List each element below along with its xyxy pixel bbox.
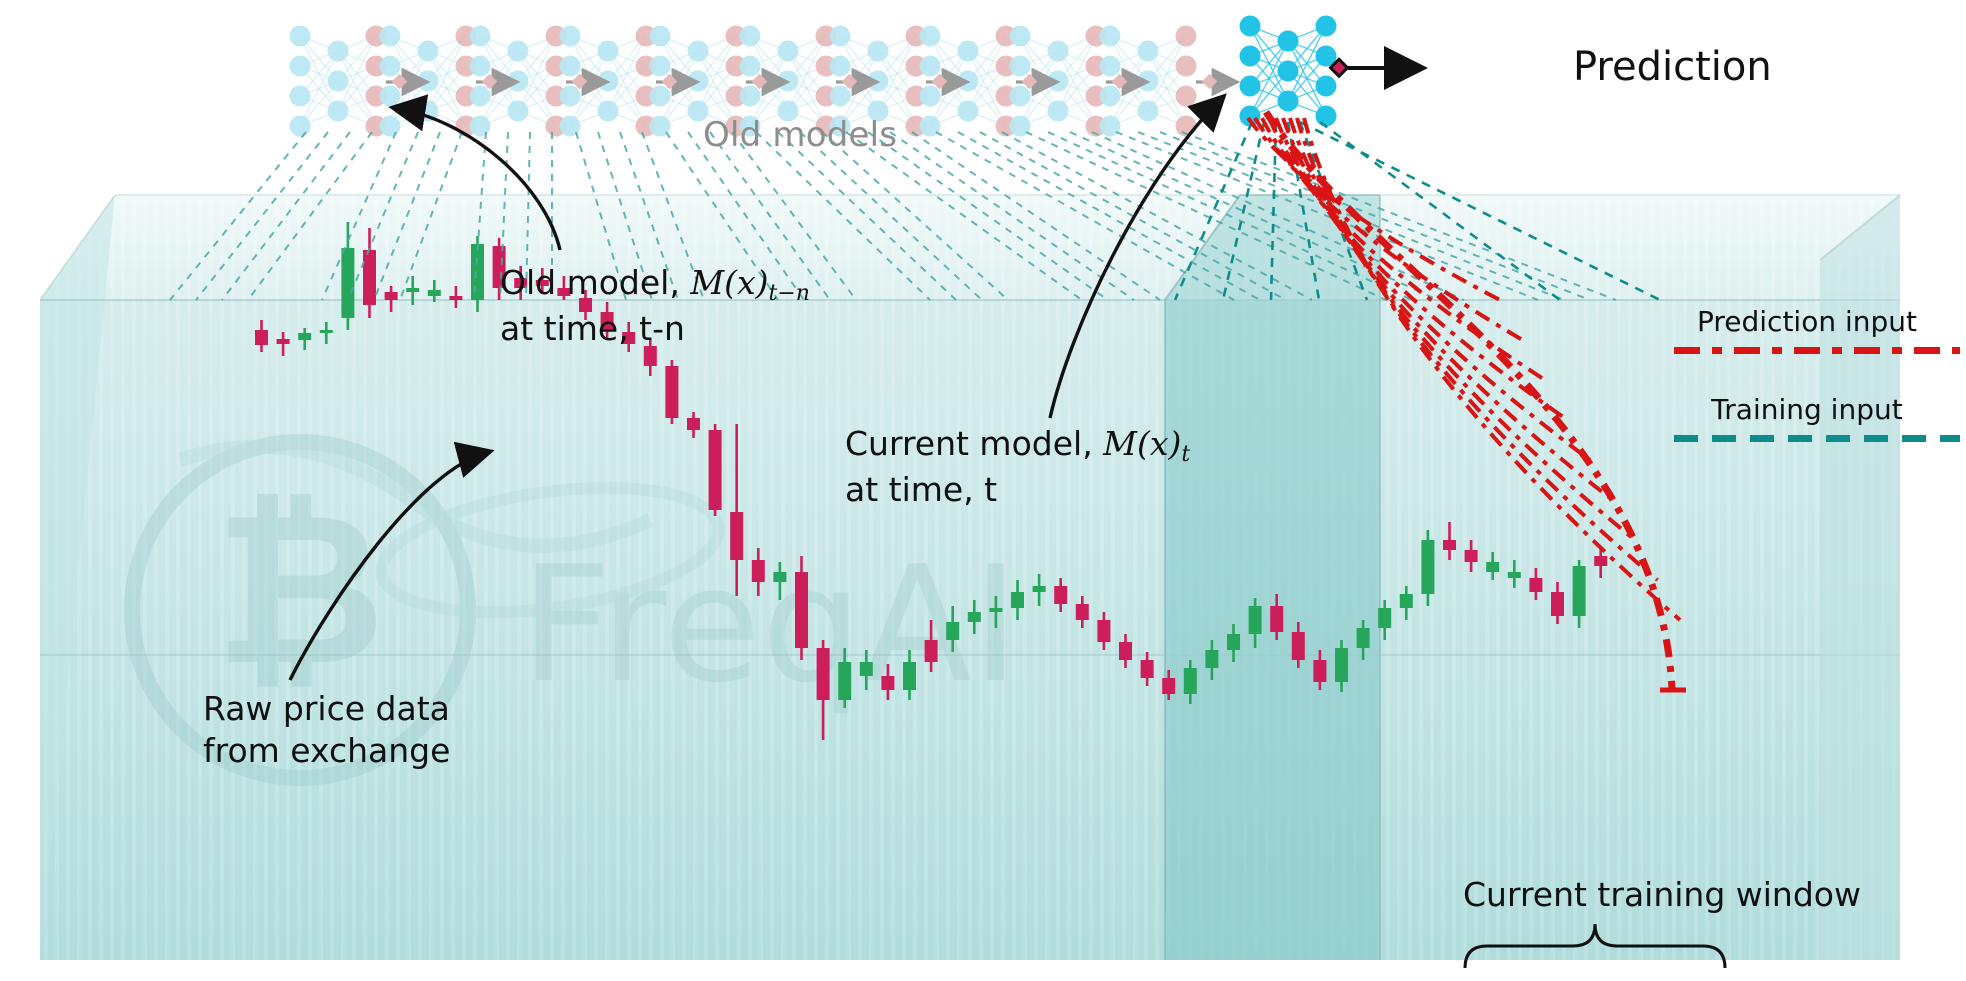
old-model-line1-prefix: Old model, [500,263,690,302]
current-model-line2: at time, t [845,469,1190,511]
legend-swatch-training-input [1674,435,1960,442]
old-model-line2: at time, t-n [500,308,810,350]
old-model-math-sub: t−n [768,281,809,306]
current-model-math: M(x) [1103,424,1181,463]
old-models-label: Old models [703,115,897,155]
current-training-window-label: Current training window [1463,875,1861,914]
old-model-math: M(x) [690,263,768,302]
legend-item-prediction-input: Prediction input [1664,305,1964,367]
legend-label-prediction-input: Prediction input [1664,305,1950,338]
legend-label-training-input: Training input [1664,393,1950,426]
annotation-current-model: Current model, M(x)t at time, t [845,423,1190,510]
legend-item-training-input: Training input [1664,393,1964,455]
figure-canvas: ₿ FreqAI Old models Prediction Old model… [0,0,1966,981]
annotation-old-model: Old model, M(x)t−n at time, t-n [500,262,810,349]
current-model-line1-prefix: Current model, [845,424,1103,463]
annotation-raw-price-data: Raw price data from exchange [203,688,450,771]
current-model-math-sub: t [1181,442,1190,467]
raw-price-line2: from exchange [203,730,450,772]
prediction-label: Prediction [1573,44,1772,90]
legend-swatch-prediction-input [1674,347,1960,354]
raw-price-line1: Raw price data [203,688,450,730]
legend: Prediction input Training input [1664,305,1964,455]
